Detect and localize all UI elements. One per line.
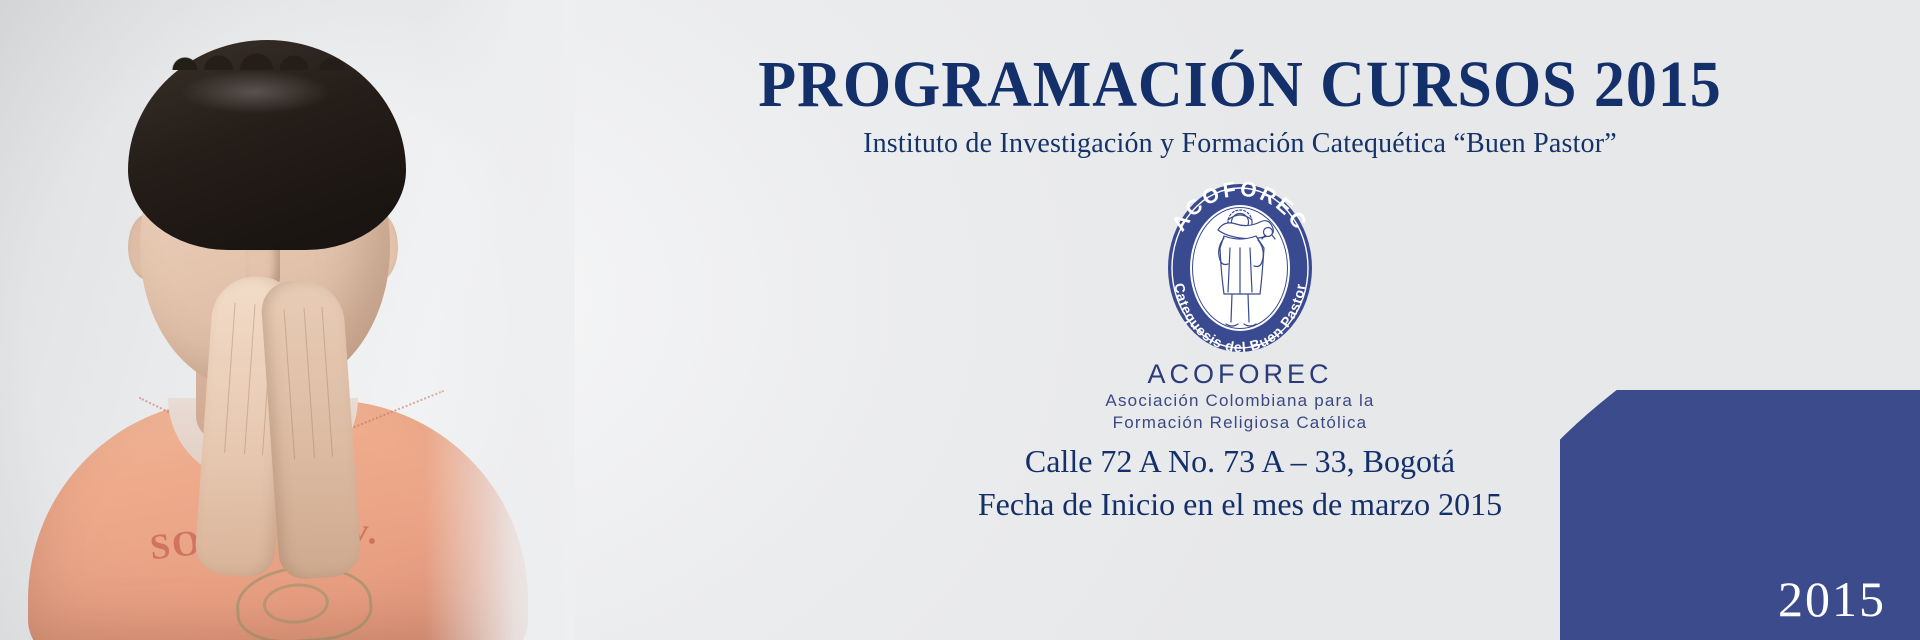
logo-caption: ACOFOREC Asociación Colombiana para la F… [560, 358, 1920, 435]
acoforec-logo: ACOFOREC Catequesis del Buen Pastor [560, 178, 1920, 358]
page-subtitle: Instituto de Investigación y Formación C… [560, 128, 1920, 160]
page-title: PROGRAMACIÓN CURSOS 2015 [601, 52, 1879, 118]
acoforec-seal-icon: ACOFOREC Catequesis del Buen Pastor [1152, 178, 1328, 358]
photo-vignette [0, 0, 575, 640]
logo-caption-line1: Asociación Colombiana para la [560, 390, 1920, 412]
start-date-line: Fecha de Inicio en el mes de marzo 2015 [560, 483, 1920, 526]
address-line: Calle 72 A No. 73 A – 33, Bogotá [560, 440, 1920, 483]
logo-caption-name: ACOFOREC [560, 358, 1920, 390]
contact-block: Calle 72 A No. 73 A – 33, Bogotá Fecha d… [560, 440, 1920, 526]
course-program-banner: SO ov. [0, 0, 1920, 640]
banner-content: PROGRAMACIÓN CURSOS 2015 Instituto de In… [560, 0, 1920, 640]
praying-boy-photo: SO ov. [0, 0, 575, 640]
logo-caption-line2: Formación Religiosa Católica [560, 412, 1920, 434]
